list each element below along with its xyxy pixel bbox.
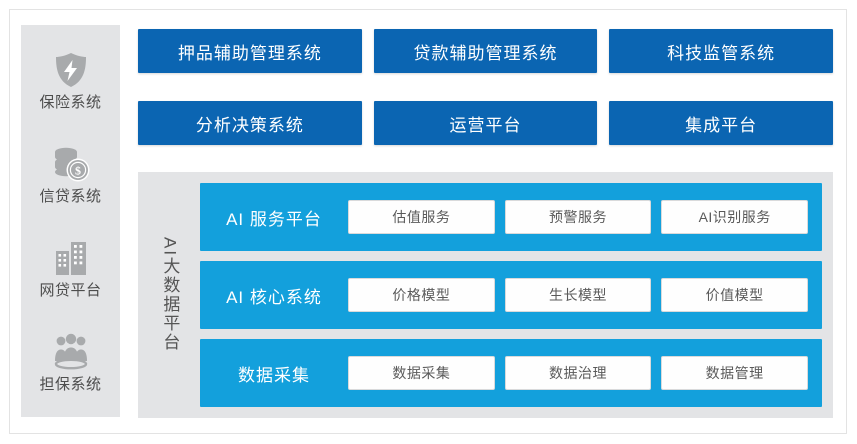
sidebar-item-online-lending[interactable]: 网贷平台 <box>21 236 120 300</box>
chip-price-model[interactable]: 价格模型 <box>348 278 495 312</box>
chip-value-model[interactable]: 价值模型 <box>661 278 808 312</box>
office-buildings-icon <box>49 236 93 280</box>
chip-data-governance[interactable]: 数据治理 <box>505 356 652 390</box>
system-card-label: 科技监管系统 <box>667 39 775 64</box>
chip-label: 价格模型 <box>392 285 450 305</box>
layer-data-collection[interactable]: 数据采集 数据采集 数据治理 数据管理 <box>200 339 822 407</box>
layer-title: AI 核心系统 <box>200 283 348 308</box>
chip-label: 估值服务 <box>392 207 450 227</box>
ai-bigdata-platform-panel: AI大数据平台 AI 服务平台 估值服务 预警服务 AI识别服务 AI <box>138 172 833 418</box>
layer-ai-core-system[interactable]: AI 核心系统 价格模型 生长模型 价值模型 <box>200 261 822 329</box>
chip-label: 数据治理 <box>549 363 607 383</box>
sidebar-item-label: 网贷平台 <box>39 282 101 300</box>
sidebar-item-label: 担保系统 <box>39 376 101 394</box>
chip-label: 生长模型 <box>549 285 607 305</box>
chip-label: 预警服务 <box>549 207 607 227</box>
system-card-tech-supervision[interactable]: 科技监管系统 <box>609 29 833 73</box>
system-card-operations-platform[interactable]: 运营平台 <box>374 101 598 145</box>
sidebar-item-insurance[interactable]: 保险系统 <box>21 48 120 112</box>
svg-text:$: $ <box>75 164 81 178</box>
sidebar-item-credit[interactable]: $ 信贷系统 <box>21 142 120 206</box>
diagram-canvas: 保险系统 $ 信贷系统 <box>0 0 857 444</box>
system-card-label: 集成平台 <box>685 111 757 136</box>
people-group-icon <box>49 330 93 374</box>
application-systems-row-1: 押品辅助管理系统 贷款辅助管理系统 科技监管系统 <box>138 29 833 73</box>
system-card-label: 运营平台 <box>450 111 522 136</box>
business-systems-sidebar: 保险系统 $ 信贷系统 <box>21 25 120 417</box>
chip-valuation-service[interactable]: 估值服务 <box>348 200 495 234</box>
system-card-label: 押品辅助管理系统 <box>178 39 322 64</box>
platform-vertical-label: AI大数据平台 <box>138 183 200 407</box>
system-card-analysis-decision[interactable]: 分析决策系统 <box>138 101 362 145</box>
chip-label: AI识别服务 <box>699 207 771 227</box>
chip-alert-service[interactable]: 预警服务 <box>505 200 652 234</box>
sidebar-item-guarantee[interactable]: 担保系统 <box>21 330 120 394</box>
system-card-label: 分析决策系统 <box>196 111 304 136</box>
system-card-integration-platform[interactable]: 集成平台 <box>609 101 833 145</box>
layer-title: AI 服务平台 <box>200 205 348 230</box>
layer-chips: 价格模型 生长模型 价值模型 <box>348 278 808 312</box>
chip-data-management[interactable]: 数据管理 <box>661 356 808 390</box>
system-card-label: 贷款辅助管理系统 <box>414 39 558 64</box>
coin-stack-dollar-icon: $ <box>49 142 93 186</box>
chip-label: 数据采集 <box>392 363 450 383</box>
layer-chips: 估值服务 预警服务 AI识别服务 <box>348 200 808 234</box>
system-card-loan-management[interactable]: 贷款辅助管理系统 <box>374 29 598 73</box>
chip-ai-recognition-service[interactable]: AI识别服务 <box>661 200 808 234</box>
sidebar-item-label: 信贷系统 <box>39 188 101 206</box>
system-card-collateral-management[interactable]: 押品辅助管理系统 <box>138 29 362 73</box>
application-systems-row-2: 分析决策系统 运营平台 集成平台 <box>138 101 833 145</box>
chip-growth-model[interactable]: 生长模型 <box>505 278 652 312</box>
sidebar-item-label: 保险系统 <box>39 94 101 112</box>
layer-chips: 数据采集 数据治理 数据管理 <box>348 356 808 390</box>
chip-data-collection[interactable]: 数据采集 <box>348 356 495 390</box>
shield-bolt-icon <box>49 48 93 92</box>
platform-layers: AI 服务平台 估值服务 预警服务 AI识别服务 AI 核心系统 <box>200 183 822 407</box>
chip-label: 数据管理 <box>706 363 764 383</box>
chip-label: 价值模型 <box>706 285 764 305</box>
layer-title: 数据采集 <box>200 361 348 386</box>
layer-ai-service-platform[interactable]: AI 服务平台 估值服务 预警服务 AI识别服务 <box>200 183 822 251</box>
